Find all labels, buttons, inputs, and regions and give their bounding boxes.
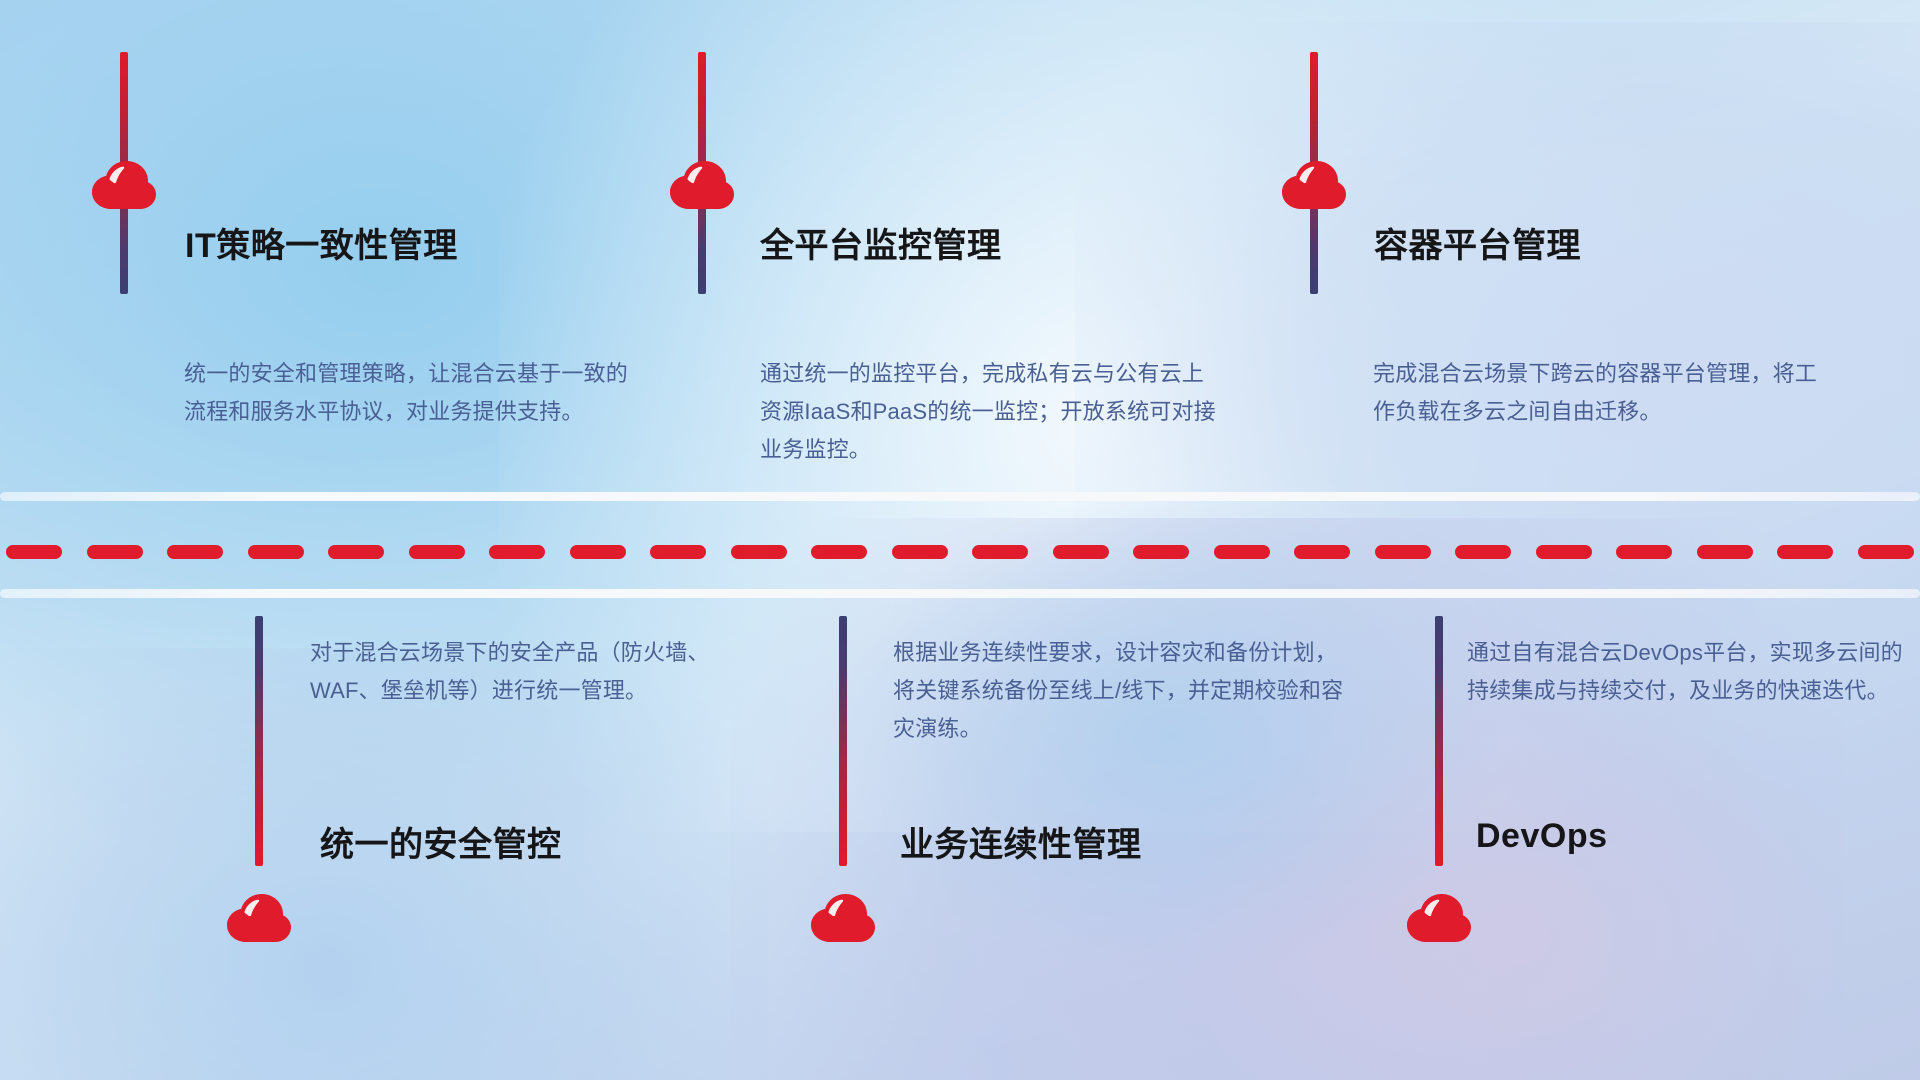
card-heading: 容器平台管理 — [1374, 218, 1581, 267]
road-dash — [1697, 545, 1753, 559]
road-divider — [0, 492, 1920, 602]
infographic-canvas: IT策略一致性管理 统一的安全和管理策略，让混合云基于一致的流程和服务水平协议，… — [0, 0, 1920, 1080]
card-business-continuity[interactable]: 根据业务连续性要求，设计容灾和备份计划，将关键系统备份至线上/线下，并定期校验和… — [660, 602, 1300, 1080]
card-heading: IT策略一致性管理 — [185, 218, 458, 267]
card-it-policy[interactable]: IT策略一致性管理 统一的安全和管理策略，让混合云基于一致的流程和服务水平协议，… — [0, 0, 640, 492]
card-monitoring[interactable]: 全平台监控管理 通过统一的监控平台，完成私有云与公有云上资源IaaS和PaaS的… — [640, 0, 1280, 492]
road-dash — [811, 545, 867, 559]
road-dash — [570, 545, 626, 559]
bottom-row: 对于混合云场景下的安全产品（防火墙、WAF、堡垒机等）进行统一管理。 统一的安全… — [0, 602, 1920, 1080]
card-heading: 全平台监控管理 — [760, 218, 1002, 267]
road-dash — [1053, 545, 1109, 559]
road-dash — [650, 545, 706, 559]
road-dash — [1858, 545, 1914, 559]
card-heading: 统一的安全管控 — [320, 817, 562, 866]
road-dash — [6, 545, 62, 559]
cloud-icon — [91, 160, 157, 210]
connector-stem — [255, 616, 263, 866]
road-dash — [1214, 545, 1270, 559]
road-dash — [87, 545, 143, 559]
road-dash — [1375, 545, 1431, 559]
road-dash — [1455, 545, 1511, 559]
road-dash — [1294, 545, 1350, 559]
road-edge-bottom — [0, 589, 1920, 598]
road-dash — [731, 545, 787, 559]
road-dash — [328, 545, 384, 559]
road-dash — [1777, 545, 1833, 559]
connector-stem — [1435, 616, 1443, 866]
top-row: IT策略一致性管理 统一的安全和管理策略，让混合云基于一致的流程和服务水平协议，… — [0, 0, 1920, 492]
road-dash — [1536, 545, 1592, 559]
cloud-icon — [669, 160, 735, 210]
road-edge-top — [0, 492, 1920, 501]
road-dash — [1616, 545, 1672, 559]
road-dash-lane — [0, 545, 1920, 559]
road-dash — [972, 545, 1028, 559]
card-container-platform[interactable]: 容器平台管理 完成混合云场景下跨云的容器平台管理，将工作负载在多云之间自由迁移。 — [1240, 0, 1920, 492]
cloud-icon — [226, 893, 292, 943]
connector-stem — [839, 616, 847, 866]
card-heading: 业务连续性管理 — [900, 817, 1142, 866]
card-devops[interactable]: 通过自有混合云DevOps平台，实现多云间的持续集成与持续交付，及业务的快速迭代… — [1300, 602, 1920, 1080]
card-body: 根据业务连续性要求，设计容灾和备份计划，将关键系统备份至线上/线下，并定期校验和… — [893, 634, 1349, 748]
card-body: 通过统一的监控平台，完成私有云与公有云上资源IaaS和PaaS的统一监控；开放系… — [760, 355, 1216, 469]
cloud-icon — [1281, 160, 1347, 210]
road-dash — [409, 545, 465, 559]
card-heading: DevOps — [1476, 817, 1608, 856]
road-dash — [1133, 545, 1189, 559]
card-body: 统一的安全和管理策略，让混合云基于一致的流程和服务水平协议，对业务提供支持。 — [184, 355, 640, 431]
road-dash — [892, 545, 948, 559]
card-body: 完成混合云场景下跨云的容器平台管理，将工作负载在多云之间自由迁移。 — [1373, 355, 1829, 431]
road-dash — [248, 545, 304, 559]
card-unified-security[interactable]: 对于混合云场景下的安全产品（防火墙、WAF、堡垒机等）进行统一管理。 统一的安全… — [0, 602, 660, 1080]
road-dash — [167, 545, 223, 559]
card-body: 通过自有混合云DevOps平台，实现多云间的持续集成与持续交付，及业务的快速迭代… — [1467, 634, 1920, 710]
cloud-icon — [1406, 893, 1472, 943]
road-dash — [489, 545, 545, 559]
cloud-icon — [810, 893, 876, 943]
